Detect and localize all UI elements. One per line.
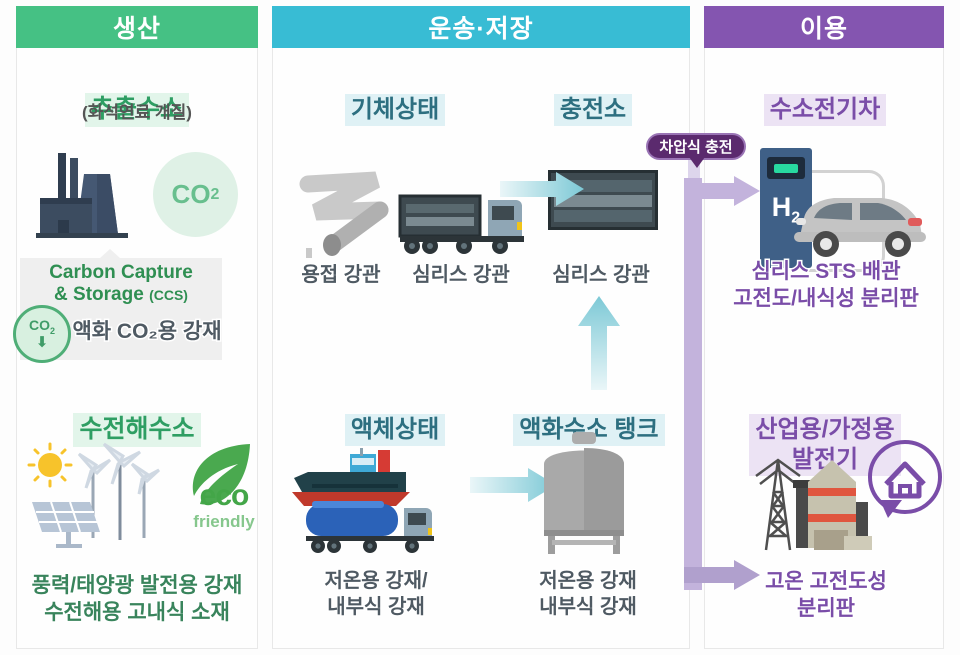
liquid-hydrogen-storage-tank-icon [530, 430, 638, 555]
heading-charging-station: 충전소 [508, 64, 678, 126]
down-arrow-icon: ⬇ [36, 335, 49, 350]
arrow-liquid-to-station [578, 296, 620, 390]
material-cryogenic-corrosion-ship: 저온용 강재/ 내부식 강재 [286, 568, 466, 620]
material-liquefied-co2-steel: 액화 CO₂용 강재 [66, 318, 228, 345]
material-seamless-pipe-truck: 심리스 강관 [396, 262, 526, 288]
home-bubble [868, 440, 942, 514]
heading-liquid-state: 액체상태 [300, 384, 490, 446]
badge-differential-pressure-charging: 차압식 충전 [646, 133, 746, 160]
material-cryogenic-corrosion-tank: 저온용 강재 내부식 강재 [498, 568, 678, 620]
purple-flow-trunk [684, 178, 702, 590]
material-welded-pipe: 용접 강관 [286, 262, 396, 288]
heading-water-electrolysis-hydrogen: 수전해수소 [20, 382, 254, 447]
eco-friendly-subtext: friendly [176, 512, 272, 532]
column-header-transport: 운송·저장 [272, 6, 690, 48]
solar-wind-icon [20, 440, 180, 550]
badge-tail [689, 157, 705, 168]
pipeline-icon [294, 168, 404, 260]
infographic-board: 생산 추출수소 (화석연료 개질) CO2 Carbon Capture & S… [0, 0, 960, 655]
column-header-use: 이용 [704, 6, 944, 48]
hydrogen-car-icon [790, 188, 930, 260]
factory-icon [32, 150, 142, 245]
ccs-title: Carbon Capture & Storage (CCS) [20, 262, 222, 306]
power-plant-icon [740, 440, 875, 555]
tank-band [554, 210, 652, 222]
heading-gas-state: 기체상태 [300, 64, 490, 126]
material-seamless-pipe-station: 심리스 강관 [536, 262, 666, 288]
note-fossil-reforming: (화석연료 개질) [20, 98, 254, 123]
co2-capture-badge-icon: CO2 ⬇ [13, 305, 71, 363]
arrow-gas-to-station [500, 172, 584, 206]
heading-fuel-cell-vehicle: 수소전기차 [710, 64, 940, 126]
liquid-tanker-truck-icon [300, 500, 450, 560]
material-wind-solar-electrolysis: 풍력/태양광 발전용 강재 수전해용 고내식 소재 [18, 572, 256, 627]
material-seamless-sts-bipolar: 심리스 STS 배관 고전도/내식성 분리판 [706, 258, 946, 313]
co2-cloud-icon: CO2 [153, 152, 238, 237]
eco-wordmark: eco [176, 482, 272, 509]
charge-level-bar [774, 164, 798, 173]
house-icon [872, 444, 938, 510]
material-high-temp-conductive-bipolar: 고온 고전도성 분리판 [706, 568, 946, 623]
charger-display [767, 157, 805, 179]
arrow-to-fuel-cell-vehicle [684, 176, 760, 206]
column-header-production: 생산 [16, 6, 258, 48]
